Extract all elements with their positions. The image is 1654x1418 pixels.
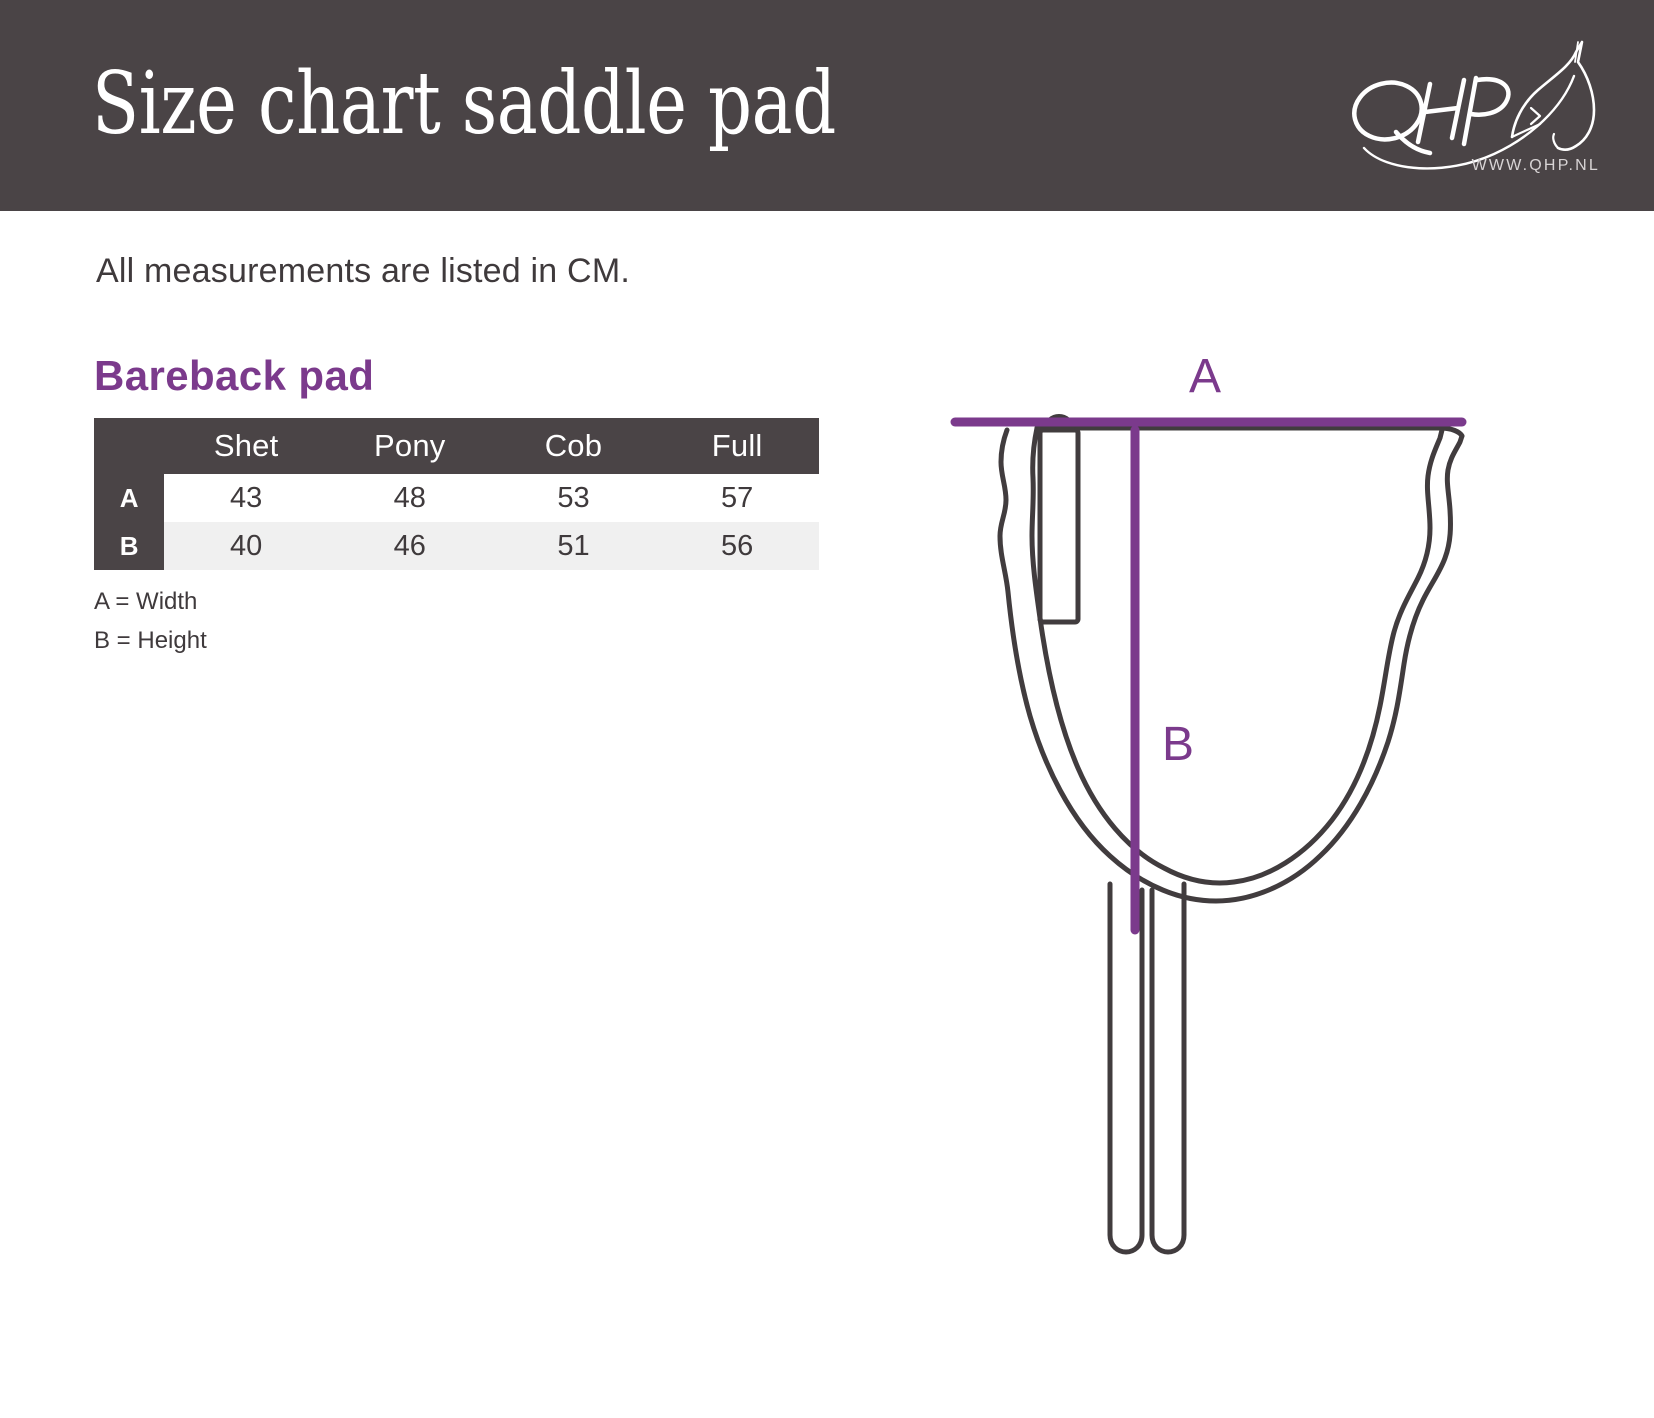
bottom-strap-right — [1152, 884, 1184, 1252]
legend-line-a: A = Width — [94, 582, 207, 621]
billet-strap — [1040, 430, 1078, 622]
table-corner-cell — [94, 418, 164, 474]
table-header-row: Shet Pony Cob Full — [94, 418, 819, 474]
pad-outline-svg: A B — [900, 350, 1520, 1290]
cell-a-cob: 53 — [492, 474, 656, 522]
row-label-b: B — [94, 522, 164, 570]
qhp-logo: WWW.QHP.NL — [1326, 36, 1626, 181]
column-header-pony: Pony — [328, 418, 492, 474]
measure-label-a: A — [1189, 350, 1221, 403]
table-row: A 43 48 53 57 — [94, 474, 819, 522]
measure-label-b: B — [1162, 718, 1194, 771]
row-label-a: A — [94, 474, 164, 522]
bareback-pad-diagram: A B — [900, 350, 1520, 1290]
pad-inner-contour — [1032, 428, 1442, 883]
header-bar: Size chart saddle pad WWW.QHP.NL — [0, 0, 1654, 211]
size-table: Shet Pony Cob Full A 43 48 53 57 B 40 46… — [94, 418, 819, 570]
cell-a-full: 57 — [655, 474, 819, 522]
table-row: B 40 46 51 56 — [94, 522, 819, 570]
bottom-strap-left — [1110, 884, 1142, 1252]
cell-b-full: 56 — [655, 522, 819, 570]
measurement-note: All measurements are listed in CM. — [96, 252, 630, 291]
legend: A = Width B = Height — [94, 582, 207, 660]
section-title: Bareback pad — [94, 352, 374, 400]
cell-b-shet: 40 — [164, 522, 328, 570]
cell-a-pony: 48 — [328, 474, 492, 522]
pad-top-edge — [1037, 428, 1462, 436]
logo-url-text: WWW.QHP.NL — [1472, 157, 1600, 175]
column-header-cob: Cob — [492, 418, 656, 474]
table-body: A 43 48 53 57 B 40 46 51 56 — [94, 474, 819, 570]
legend-line-b: B = Height — [94, 621, 207, 660]
pad-outer-contour — [1000, 430, 1462, 901]
table-header: Shet Pony Cob Full — [94, 418, 819, 474]
column-header-full: Full — [655, 418, 819, 474]
column-header-shet: Shet — [164, 418, 328, 474]
cell-b-pony: 46 — [328, 522, 492, 570]
cell-a-shet: 43 — [164, 474, 328, 522]
cell-b-cob: 51 — [492, 522, 656, 570]
page-title: Size chart saddle pad — [92, 48, 836, 160]
